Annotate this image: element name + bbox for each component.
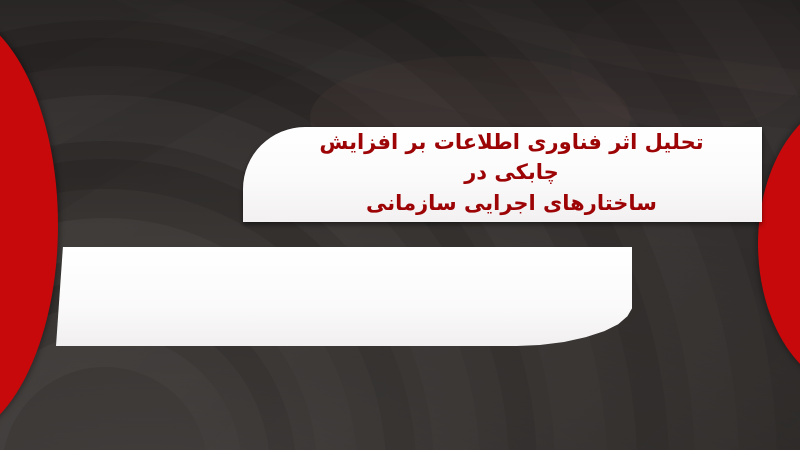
title-line-1: تحلیل اثر فناوری اطلاعات بر افزایش چابکی…	[319, 130, 703, 184]
title-panel[interactable]: تحلیل اثر فناوری اطلاعات بر افزایش چابکی…	[243, 127, 762, 222]
background-arc-pattern	[0, 0, 800, 450]
subtitle-panel[interactable]	[56, 247, 632, 346]
slide-title: تحلیل اثر فناوری اطلاعات بر افزایش چابکی…	[243, 127, 762, 218]
title-line-2: ساختارهای اجرایی سازمانی	[366, 191, 657, 215]
title-slide: تحلیل اثر فناوری اطلاعات بر افزایش چابکی…	[0, 0, 800, 450]
